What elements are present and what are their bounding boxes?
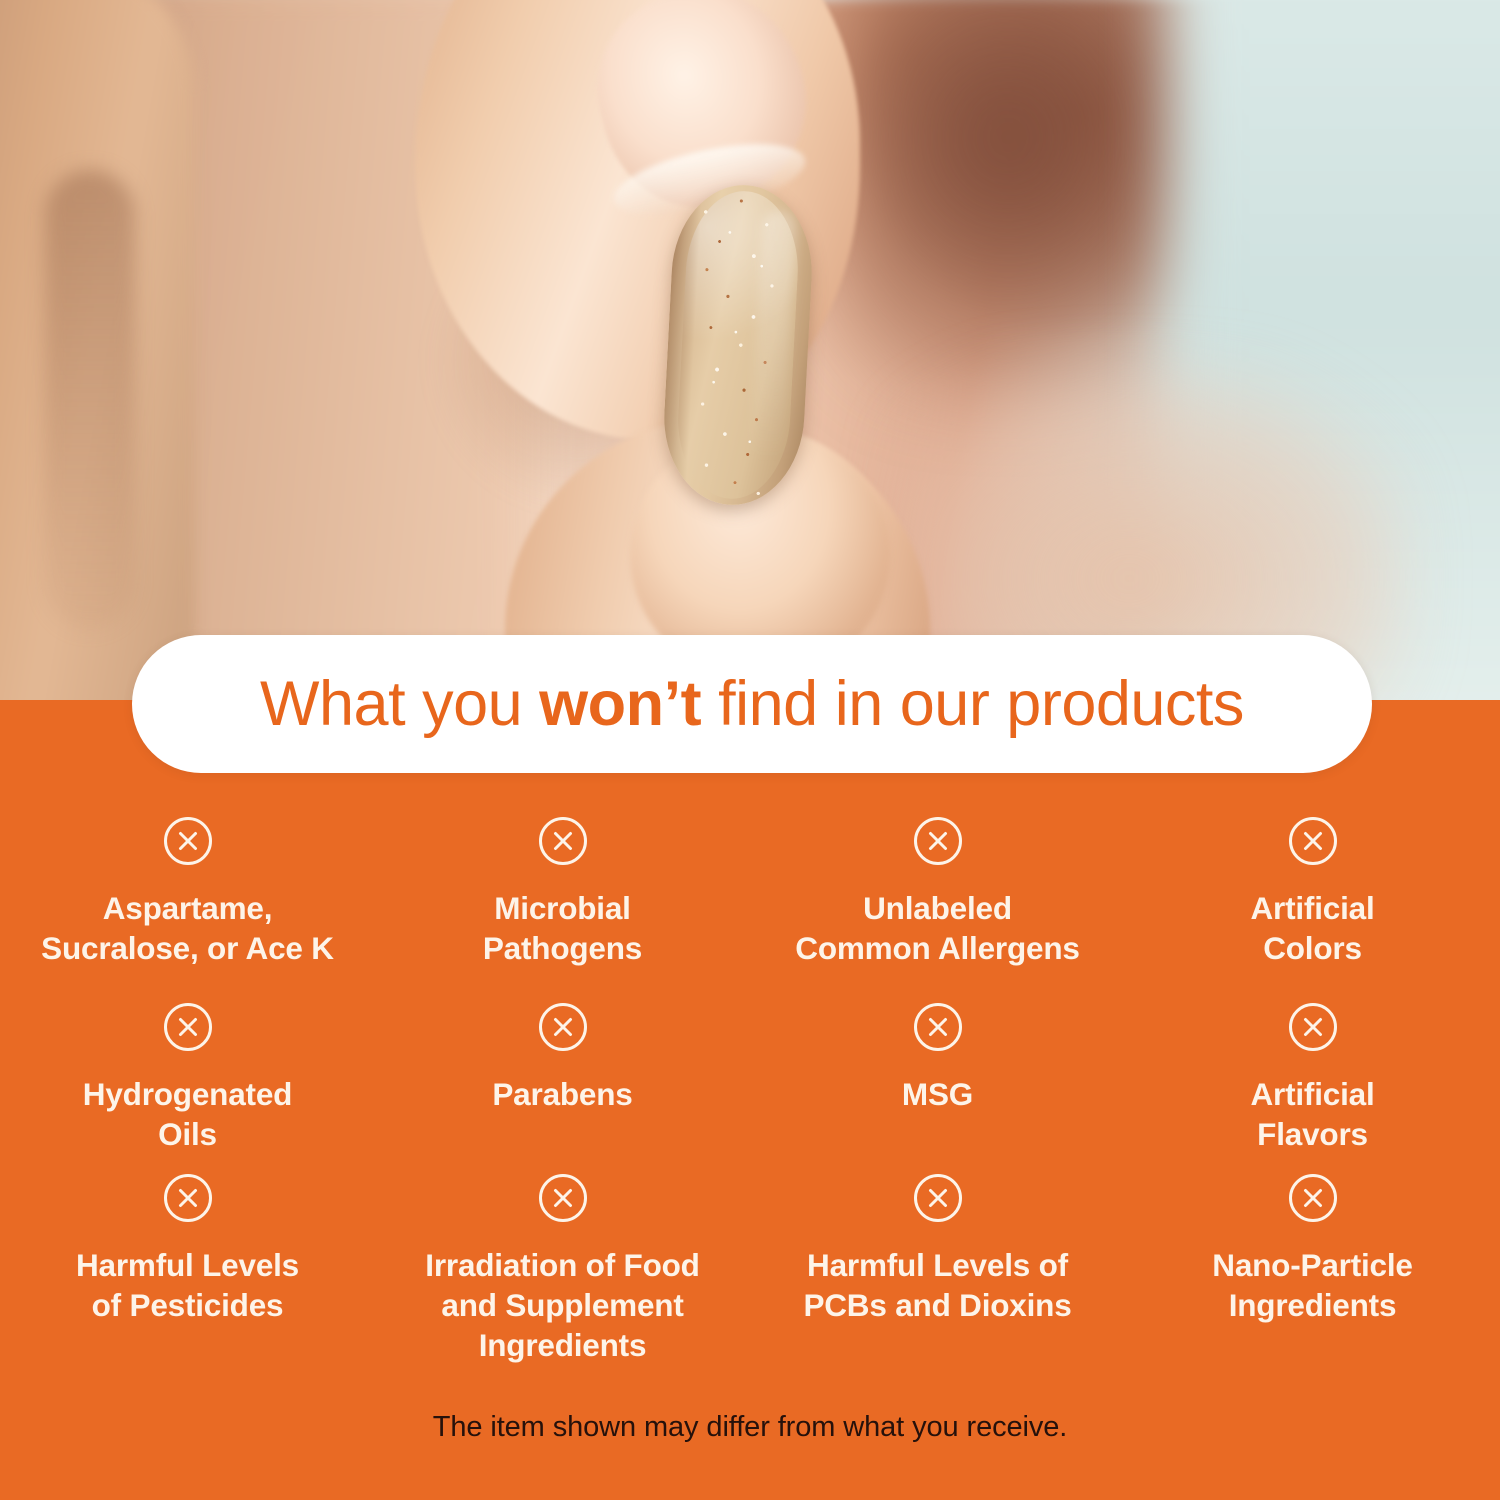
circle-x-icon bbox=[912, 1001, 964, 1053]
circle-x-icon bbox=[912, 1172, 964, 1224]
page-title-highlight: won’t bbox=[539, 669, 701, 739]
page-title-part-1: What you bbox=[260, 669, 539, 739]
claim-item: Aspartame, Sucralose, or Ace K bbox=[0, 815, 375, 1001]
page-title-part-2: find in our products bbox=[701, 669, 1244, 739]
claim-item: Harmful Levels of PCBs and Dioxins bbox=[750, 1172, 1125, 1352]
claim-item: Irradiation of Food and Supplement Ingre… bbox=[375, 1172, 750, 1352]
claim-item: Microbial Pathogens bbox=[375, 815, 750, 1001]
claims-grid-row-3: Harmful Levels of Pesticides Irradiation… bbox=[0, 1172, 1500, 1352]
circle-x-icon bbox=[1287, 1172, 1339, 1224]
circle-x-icon bbox=[1287, 815, 1339, 867]
circle-x-icon bbox=[162, 1001, 214, 1053]
claim-item: Unlabeled Common Allergens bbox=[750, 815, 1125, 1001]
claim-label: Unlabeled Common Allergens bbox=[795, 888, 1079, 968]
claim-label: Aspartame, Sucralose, or Ace K bbox=[41, 888, 334, 968]
claim-label: Parabens bbox=[492, 1074, 632, 1114]
circle-x-icon bbox=[537, 815, 589, 867]
claim-item: MSG bbox=[750, 1001, 1125, 1173]
circle-x-icon bbox=[1287, 1001, 1339, 1053]
claims-grid-row-2: Hydrogenated Oils Parabens MSG bbox=[0, 1001, 1500, 1173]
circle-x-icon bbox=[162, 815, 214, 867]
headline-card: What you won’t find in our products bbox=[132, 635, 1372, 773]
claim-item: Nano-Particle Ingredients bbox=[1125, 1172, 1500, 1352]
claim-label: Nano-Particle Ingredients bbox=[1212, 1245, 1412, 1325]
background-finger-crease bbox=[45, 170, 135, 630]
circle-x-icon bbox=[162, 1172, 214, 1224]
page-title: What you won’t find in our products bbox=[260, 673, 1244, 736]
claim-label: Irradiation of Food and Supplement Ingre… bbox=[425, 1245, 699, 1365]
claim-label: Hydrogenated Oils bbox=[83, 1074, 292, 1154]
claim-item: Artificial Colors bbox=[1125, 815, 1500, 1001]
claim-item: Hydrogenated Oils bbox=[0, 1001, 375, 1173]
claim-label: Microbial Pathogens bbox=[483, 888, 642, 968]
circle-x-icon bbox=[537, 1172, 589, 1224]
claim-label: MSG bbox=[902, 1074, 973, 1114]
claim-item: Artificial Flavors bbox=[1125, 1001, 1500, 1173]
disclaimer-text: The item shown may differ from what you … bbox=[0, 1408, 1500, 1446]
claim-label: Harmful Levels of Pesticides bbox=[76, 1245, 299, 1325]
supplement-tablet bbox=[660, 182, 817, 509]
circle-x-icon bbox=[912, 815, 964, 867]
product-photo bbox=[0, 0, 1500, 705]
claim-label: Artificial Flavors bbox=[1250, 1074, 1374, 1154]
circle-x-icon bbox=[537, 1001, 589, 1053]
claims-grid-row-1: Aspartame, Sucralose, or Ace K Microbial… bbox=[0, 815, 1500, 1001]
product-claims-infographic: What you won’t find in our products Aspa… bbox=[0, 0, 1500, 1500]
claim-item: Harmful Levels of Pesticides bbox=[0, 1172, 375, 1352]
claim-item: Parabens bbox=[375, 1001, 750, 1173]
claim-label: Artificial Colors bbox=[1250, 888, 1374, 968]
claim-label: Harmful Levels of PCBs and Dioxins bbox=[803, 1245, 1071, 1325]
